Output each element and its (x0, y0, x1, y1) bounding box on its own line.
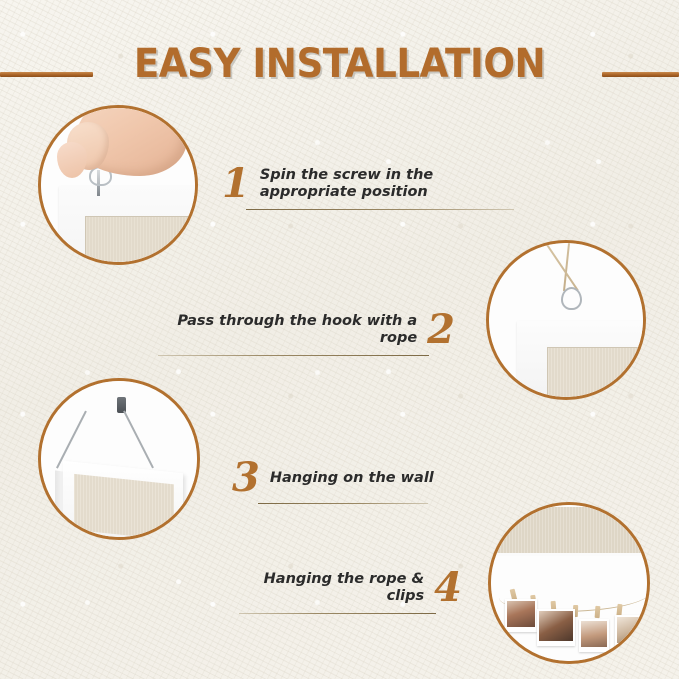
step-3-underline (258, 503, 428, 504)
frame-bottom-edge (491, 507, 647, 556)
hanging-photo (579, 619, 609, 652)
step-1-illustration (41, 108, 195, 262)
step-2-number: 2 (427, 310, 455, 350)
step-3-row: 3 Hanging on the wall (232, 458, 462, 498)
step-1-row: 1 Spin the screw in the appropriate posi… (222, 164, 517, 204)
installation-instructions-page: EASY INSTALLATION 1 Spin the screw in th… (0, 0, 679, 679)
hanging-wire-right (123, 411, 153, 469)
hook-ring (561, 287, 582, 310)
step-2-underline (158, 355, 429, 356)
step-4-row: Hanging the rope & clips 4 (222, 568, 462, 608)
wooden-clip (595, 606, 601, 618)
step-4: Hanging the rope & clips 4 (222, 568, 462, 614)
step-1: 1 Spin the screw in the appropriate posi… (222, 164, 517, 210)
rope-strand-right (540, 243, 579, 291)
picture-frame (63, 461, 183, 537)
step-3-illustration (41, 381, 197, 537)
step-4-text: Hanging the rope & clips (222, 571, 424, 605)
step-4-number: 4 (434, 568, 462, 608)
rope-strand-left (563, 243, 572, 291)
page-header: EASY INSTALLATION (0, 22, 679, 84)
step-4-underline (239, 613, 436, 614)
step-2-text: Pass through the hook with a rope (155, 313, 417, 347)
hanging-wire-left (56, 411, 86, 469)
step-2-row: Pass through the hook with a rope 2 (155, 310, 455, 350)
step-2-illustration (489, 243, 643, 397)
step-1-image (38, 105, 198, 265)
hanging-photo (505, 599, 537, 632)
step-2: Pass through the hook with a rope 2 (155, 310, 455, 356)
step-4-illustration (491, 505, 647, 661)
step-1-number: 1 (222, 164, 250, 204)
step-2-image (486, 240, 646, 400)
step-3: 3 Hanging on the wall (232, 458, 462, 504)
frame-mat (74, 474, 174, 537)
step-3-image (38, 378, 200, 540)
index-finger (57, 142, 87, 178)
step-1-text: Spin the screw in the appropriate positi… (260, 167, 517, 201)
step-3-number: 3 (232, 458, 260, 498)
step-4-image (488, 502, 650, 664)
step-3-text: Hanging on the wall (270, 470, 434, 487)
header-rule-right (602, 72, 679, 77)
step-1-underline (246, 209, 514, 210)
hanging-photo (615, 615, 643, 648)
hanging-photo (537, 609, 575, 646)
frame-mat (85, 216, 195, 262)
page-title: EASY INSTALLATION (24, 43, 655, 85)
frame-mat (547, 347, 643, 397)
